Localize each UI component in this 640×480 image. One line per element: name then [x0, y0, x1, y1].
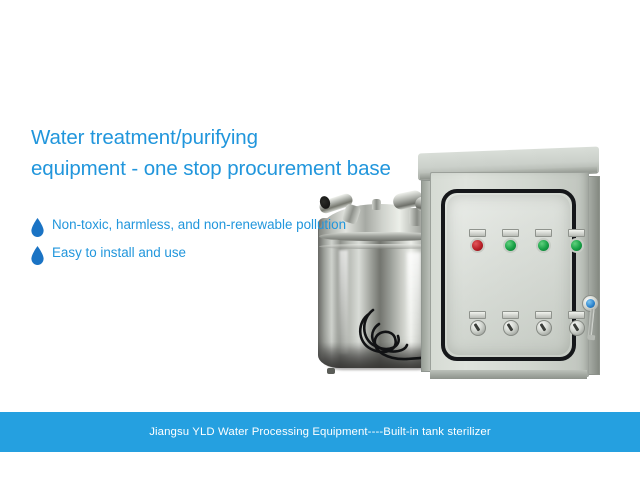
cabinet-base: [430, 370, 587, 379]
switch-pointer-icon: [506, 323, 512, 331]
switch-knob[interactable]: [536, 320, 552, 336]
cabinet-door[interactable]: [441, 189, 576, 361]
switch-knob[interactable]: [470, 320, 486, 336]
list-item-label: Easy to install and use: [52, 244, 186, 261]
headline-line-2: equipment - one stop procurement base: [31, 153, 431, 184]
water-drop-icon: [31, 246, 44, 265]
switch-pointer-icon: [473, 323, 479, 331]
indicator-label-plate: [535, 229, 552, 237]
promotional-slide: Water treatment/purifying equipment - on…: [0, 0, 640, 480]
list-item: Non-toxic, harmless, and non-renewable p…: [31, 216, 391, 237]
water-drop-icon: [31, 218, 44, 237]
switch-label-plate: [469, 311, 486, 319]
rotary-switch-1[interactable]: [469, 311, 486, 336]
door-key-lock[interactable]: [581, 295, 603, 343]
page-title: Water treatment/purifying equipment - on…: [31, 122, 431, 184]
indicator-label-plate: [469, 229, 486, 237]
indicator-light-row: [469, 229, 585, 253]
rotary-switch-row: [469, 311, 585, 336]
indicator-label-plate: [502, 229, 519, 237]
switch-pointer-icon: [539, 323, 545, 331]
indicator-lamp-green[interactable]: [536, 238, 551, 253]
switch-pointer-icon: [572, 323, 578, 331]
valve-stub: [372, 199, 381, 210]
lock-key-tip: [588, 335, 595, 341]
indicator-light-1[interactable]: [469, 229, 486, 253]
lock-core-icon[interactable]: [586, 299, 595, 308]
indicator-label-plate: [568, 229, 585, 237]
bottom-banner: Jiangsu YLD Water Processing Equipment--…: [0, 412, 640, 452]
switch-label-plate: [502, 311, 519, 319]
indicator-light-4[interactable]: [568, 229, 585, 253]
indicator-lamp-green[interactable]: [503, 238, 518, 253]
list-item-label: Non-toxic, harmless, and non-renewable p…: [52, 216, 346, 233]
switch-label-plate: [535, 311, 552, 319]
cabinet-body: [430, 172, 589, 377]
electrical-control-cabinet: [418, 150, 600, 380]
list-item: Easy to install and use: [31, 244, 391, 265]
rotary-switch-3[interactable]: [535, 311, 552, 336]
rotary-switch-2[interactable]: [502, 311, 519, 336]
feature-bullet-list: Non-toxic, harmless, and non-renewable p…: [31, 216, 391, 272]
indicator-light-2[interactable]: [502, 229, 519, 253]
indicator-light-3[interactable]: [535, 229, 552, 253]
tank-foot: [327, 368, 335, 374]
indicator-lamp-green[interactable]: [569, 238, 584, 253]
indicator-lamp-red[interactable]: [470, 238, 485, 253]
banner-caption: Jiangsu YLD Water Processing Equipment--…: [149, 426, 490, 438]
switch-knob[interactable]: [503, 320, 519, 336]
headline-line-1: Water treatment/purifying: [31, 122, 431, 153]
